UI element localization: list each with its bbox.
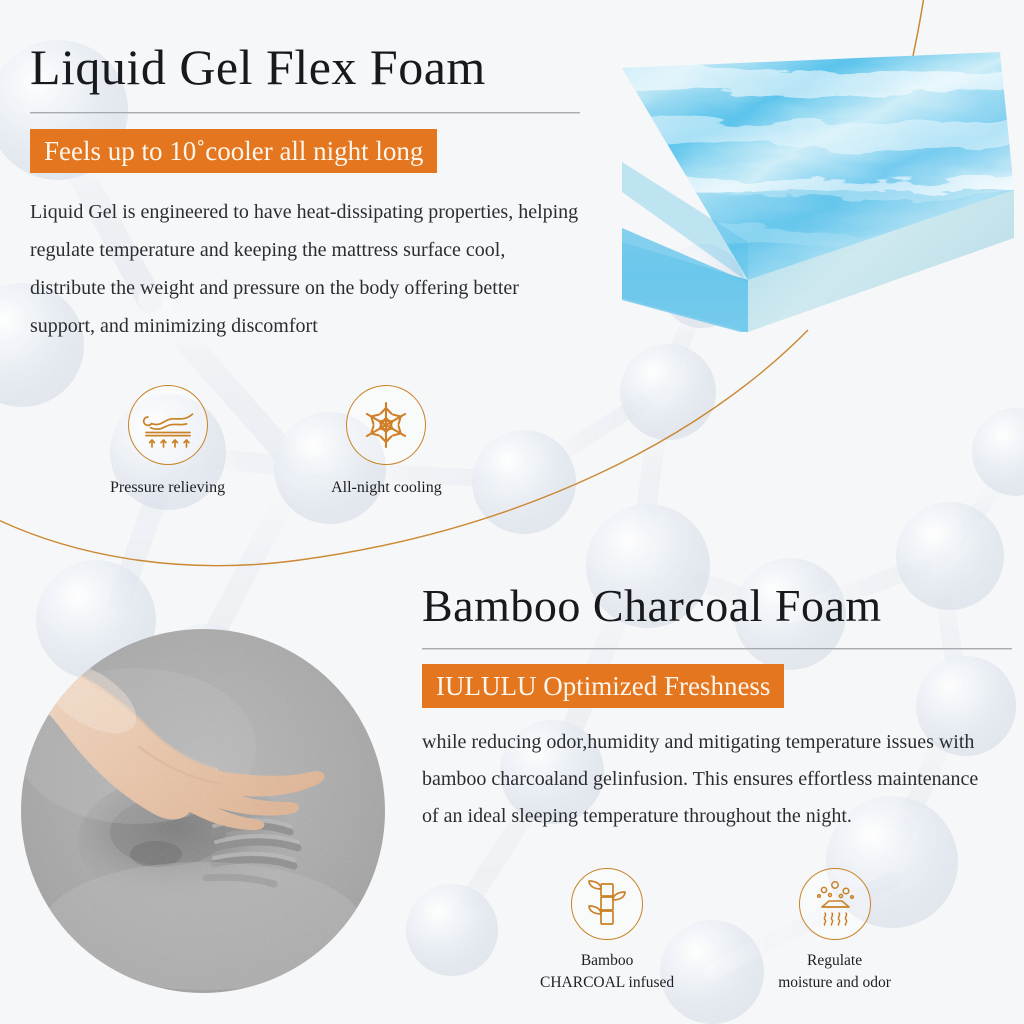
feature-label: Regulate moisture and odor bbox=[778, 950, 891, 995]
liquid-gel-section: Liquid Gel Flex Foam Feels up to 10˚cool… bbox=[30, 38, 590, 345]
feature-bamboo-charcoal: Bamboo CHARCOAL infused bbox=[540, 868, 674, 995]
feature-label-line: moisture and odor bbox=[778, 972, 891, 994]
bamboo-charcoal-heading: Bamboo Charcoal Foam bbox=[422, 578, 1022, 634]
snowflake-icon-circle bbox=[346, 385, 426, 465]
pressure-relief-icon-circle bbox=[128, 385, 208, 465]
feature-label-line: Pressure relieving bbox=[110, 476, 225, 499]
bamboo-icon bbox=[584, 880, 630, 928]
hand-pressing-memory-foam-photo bbox=[18, 626, 388, 996]
feature-label-line: Bamboo bbox=[540, 950, 674, 972]
bamboo-charcoal-badge: IULULU Optimized Freshness bbox=[422, 664, 784, 708]
bamboo-charcoal-section: Bamboo Charcoal Foam IULULU Optimized Fr… bbox=[422, 578, 1022, 835]
infographic-page: Liquid Gel Flex Foam Feels up to 10˚cool… bbox=[0, 0, 1024, 1024]
paragraph-line: regulate temperature and keeping the mat… bbox=[30, 231, 590, 269]
feature-pressure-relieving: Pressure relieving bbox=[110, 385, 225, 499]
snowflake-icon bbox=[360, 399, 412, 451]
bamboo-charcoal-divider bbox=[422, 648, 1012, 650]
feature-label: All-night cooling bbox=[331, 476, 442, 499]
bamboo-charcoal-paragraph: while reducing odor,humidity and mitigat… bbox=[422, 724, 1022, 835]
paragraph-line: bamboo charcoaland gelinfusion. This ens… bbox=[422, 761, 1022, 798]
paragraph-line: distribute the weight and pressure on th… bbox=[30, 269, 590, 307]
pressure-relief-icon bbox=[141, 400, 195, 450]
paragraph-line: Liquid Gel is engineered to have heat-di… bbox=[30, 193, 590, 231]
feature-label-line: Regulate bbox=[778, 950, 891, 972]
feature-label-line: CHARCOAL infused bbox=[540, 972, 674, 994]
paragraph-line: support, and minimizing discomfort bbox=[30, 307, 590, 345]
liquid-gel-features: Pressure relieving bbox=[110, 385, 442, 499]
bamboo-charcoal-features: Bamboo CHARCOAL infused bbox=[540, 868, 891, 995]
feature-moisture-regulation: Regulate moisture and odor bbox=[778, 868, 891, 995]
feature-label-line: All-night cooling bbox=[331, 476, 442, 499]
paragraph-line: while reducing odor,humidity and mitigat… bbox=[422, 724, 1022, 761]
liquid-gel-heading: Liquid Gel Flex Foam bbox=[30, 38, 590, 96]
paragraph-line: of an ideal sleeping temperature through… bbox=[422, 798, 1022, 835]
liquid-gel-paragraph: Liquid Gel is engineered to have heat-di… bbox=[30, 193, 590, 345]
feature-all-night-cooling: All-night cooling bbox=[331, 385, 442, 499]
bamboo-icon-circle bbox=[571, 868, 643, 940]
moisture-regulation-icon bbox=[811, 880, 859, 928]
liquid-gel-badge: Feels up to 10˚cooler all night long bbox=[30, 129, 437, 173]
feature-label: Pressure relieving bbox=[110, 476, 225, 499]
moisture-regulation-icon-circle bbox=[799, 868, 871, 940]
liquid-gel-divider bbox=[30, 112, 580, 114]
gel-foam-slab-photo bbox=[618, 42, 1018, 332]
feature-label: Bamboo CHARCOAL infused bbox=[540, 950, 674, 995]
